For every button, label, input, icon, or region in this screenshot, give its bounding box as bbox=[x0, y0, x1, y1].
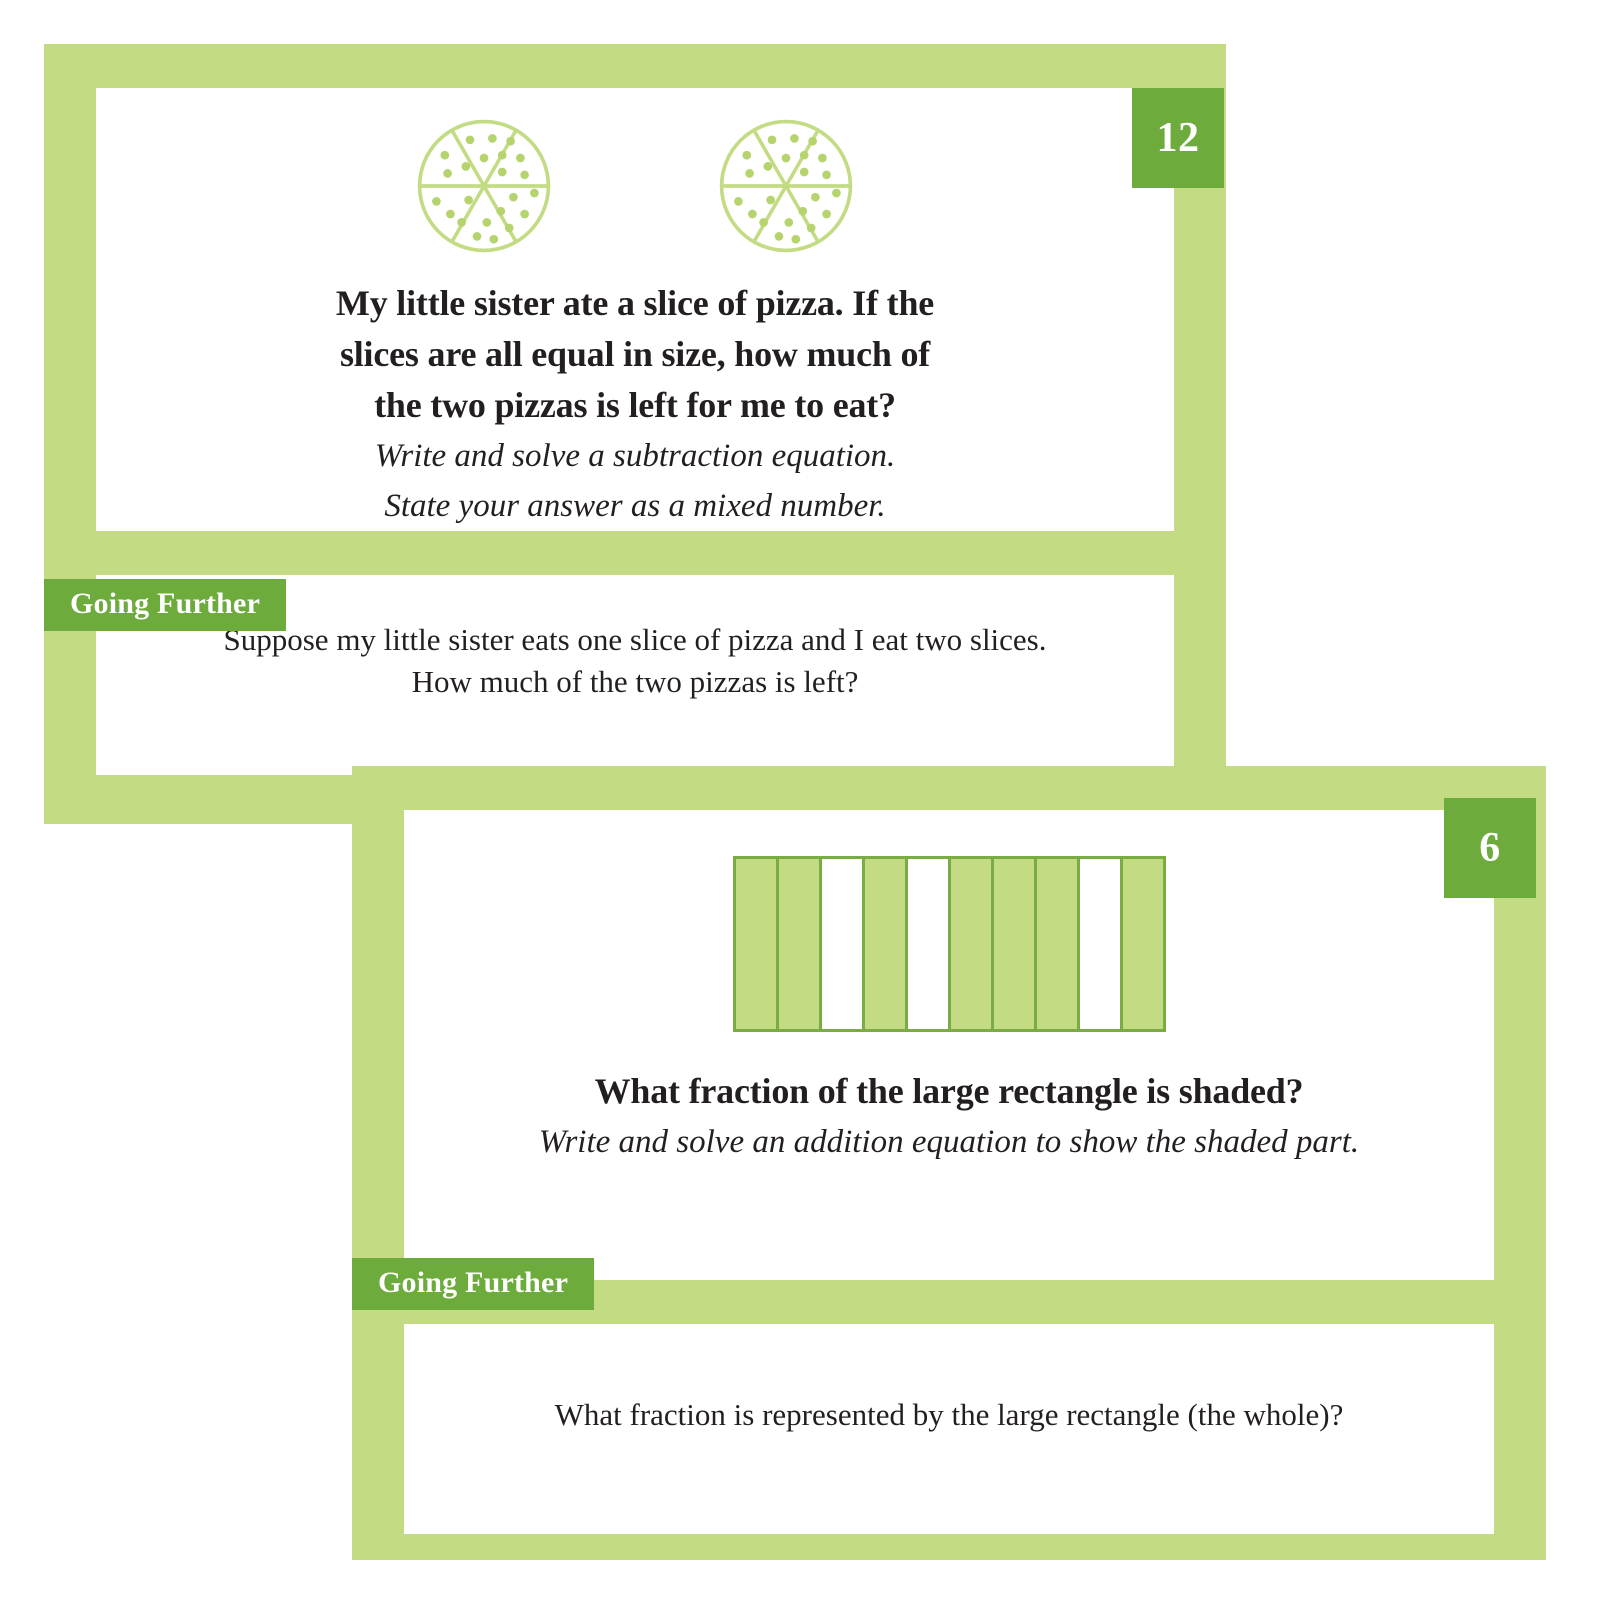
going-further-line: What fraction is represented by the larg… bbox=[404, 1394, 1494, 1436]
card-number-badge: 6 bbox=[1444, 798, 1536, 898]
fraction-cell bbox=[822, 859, 865, 1029]
fraction-cell bbox=[779, 859, 822, 1029]
fraction-cell bbox=[951, 859, 994, 1029]
card-6-main-panel: What fraction of the large rectangle is … bbox=[404, 810, 1494, 1280]
pizza-icon bbox=[716, 116, 856, 256]
fraction-cell bbox=[865, 859, 908, 1029]
card-12-question: My little sister ate a slice of pizza. I… bbox=[96, 256, 1174, 531]
card-6-going-further-body: What fraction is represented by the larg… bbox=[404, 1324, 1494, 1436]
fraction-bar-figure bbox=[404, 810, 1494, 1032]
going-further-tab: Going Further bbox=[44, 579, 286, 631]
fraction-cell bbox=[736, 859, 779, 1029]
question-line: the two pizzas is left for me to eat? bbox=[96, 380, 1174, 431]
instruction-line: Write and solve an addition equation to … bbox=[404, 1117, 1494, 1167]
question-line: My little sister ate a slice of pizza. I… bbox=[96, 278, 1174, 329]
question-line: What fraction of the large rectangle is … bbox=[404, 1066, 1494, 1117]
fraction-cell bbox=[908, 859, 951, 1029]
fraction-cell bbox=[1123, 859, 1163, 1029]
fraction-cell bbox=[1037, 859, 1080, 1029]
instruction-line: State your answer as a mixed number. bbox=[96, 481, 1174, 531]
card-12-main-panel: My little sister ate a slice of pizza. I… bbox=[96, 88, 1174, 531]
task-card-12: My little sister ate a slice of pizza. I… bbox=[44, 44, 1226, 824]
task-card-6: What fraction of the large rectangle is … bbox=[352, 766, 1546, 1560]
pizza-figure-group bbox=[96, 88, 1174, 256]
instruction-line: Write and solve a subtraction equation. bbox=[96, 431, 1174, 481]
fraction-cell bbox=[994, 859, 1037, 1029]
card-number-badge: 12 bbox=[1132, 88, 1224, 188]
fraction-cell bbox=[1080, 859, 1123, 1029]
card-6-question: What fraction of the large rectangle is … bbox=[404, 1032, 1494, 1167]
card-6-going-further-panel: What fraction is represented by the larg… bbox=[404, 1324, 1494, 1534]
worksheet-page: My little sister ate a slice of pizza. I… bbox=[0, 0, 1600, 1600]
question-line: slices are all equal in size, how much o… bbox=[96, 329, 1174, 380]
fraction-bar bbox=[733, 856, 1166, 1032]
going-further-line: How much of the two pizzas is left? bbox=[96, 661, 1174, 703]
going-further-tab: Going Further bbox=[352, 1258, 594, 1310]
pizza-icon bbox=[414, 116, 554, 256]
